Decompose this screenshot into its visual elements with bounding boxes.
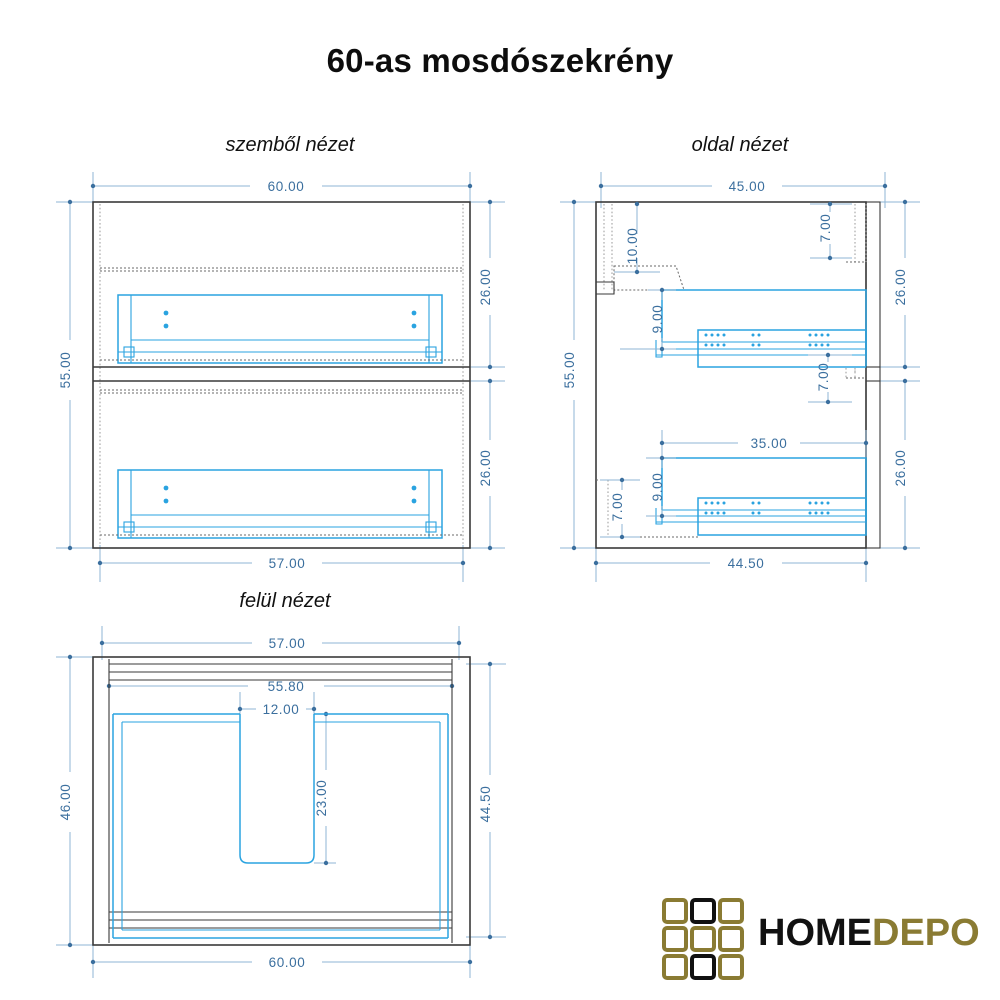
side-dim-bottom-left-inset-label: 7.00 — [610, 493, 625, 522]
front-dim-left-height-label: 55.00 — [58, 352, 73, 389]
front-dim-right-lower-label: 26.00 — [478, 450, 493, 487]
logo-wordmark: HOMEDEPO — [758, 912, 980, 955]
top-dim-cutout-width-label: 12.00 — [263, 702, 300, 717]
brand-logo: HOMEDEPO — [662, 898, 962, 986]
front-dim-top-width-label: 60.00 — [268, 179, 305, 194]
front-view-drawing — [56, 172, 505, 582]
logo-wordmark-depo: DEPO — [872, 912, 980, 954]
side-dim-lower-slide-height-label: 9.00 — [650, 473, 665, 502]
logo-grid-icon — [662, 898, 746, 982]
top-basin — [113, 714, 448, 938]
side-dim-mid-right-inset-label: 7.00 — [816, 363, 831, 392]
side-dim-right-upper-label: 26.00 — [893, 269, 908, 306]
front-dim-bottom-width-label: 57.00 — [269, 556, 306, 571]
top-dim-bottom-width-label: 60.00 — [269, 955, 306, 970]
logo-cell — [662, 926, 688, 952]
logo-wordmark-home: HOME — [758, 912, 872, 954]
logo-cell — [662, 898, 688, 924]
logo-cell — [690, 926, 716, 952]
technical-drawing: .ol{fill:none;stroke:#3a3a3a;stroke-widt… — [0, 0, 1000, 1000]
side-lower-drawer — [596, 456, 866, 539]
logo-cell — [662, 954, 688, 980]
logo-cell — [718, 898, 744, 924]
side-dim-top-right-inset-label: 7.00 — [818, 214, 833, 243]
top-dim-inner-width-label: 55.80 — [268, 679, 305, 694]
side-dim-upper-slide-height-label: 9.00 — [650, 305, 665, 334]
side-top-hanger-detail — [596, 202, 684, 294]
top-dim-right-depth-label: 44.50 — [478, 786, 493, 823]
top-dim-top-width-label: 57.00 — [269, 636, 306, 651]
logo-cell — [718, 926, 744, 952]
logo-cell — [690, 954, 716, 980]
side-dim-right-lower-label: 26.00 — [893, 450, 908, 487]
front-lower-drawer — [100, 390, 463, 538]
front-dim-right-upper-label: 26.00 — [478, 269, 493, 306]
top-dim-cutout-depth-label: 23.00 — [314, 780, 329, 817]
side-dim-left-height-label: 55.00 — [562, 352, 577, 389]
logo-cell — [690, 898, 716, 924]
side-dim-top-width-label: 45.00 — [729, 179, 766, 194]
front-upper-drawer — [100, 268, 463, 363]
side-dim-slide-length-label: 35.00 — [751, 436, 788, 451]
top-dim-left-depth-label: 46.00 — [58, 784, 73, 821]
logo-cell — [718, 954, 744, 980]
side-dim-top-inset-label: 10.00 — [625, 228, 640, 265]
side-dim-bottom-width-label: 44.50 — [728, 556, 765, 571]
